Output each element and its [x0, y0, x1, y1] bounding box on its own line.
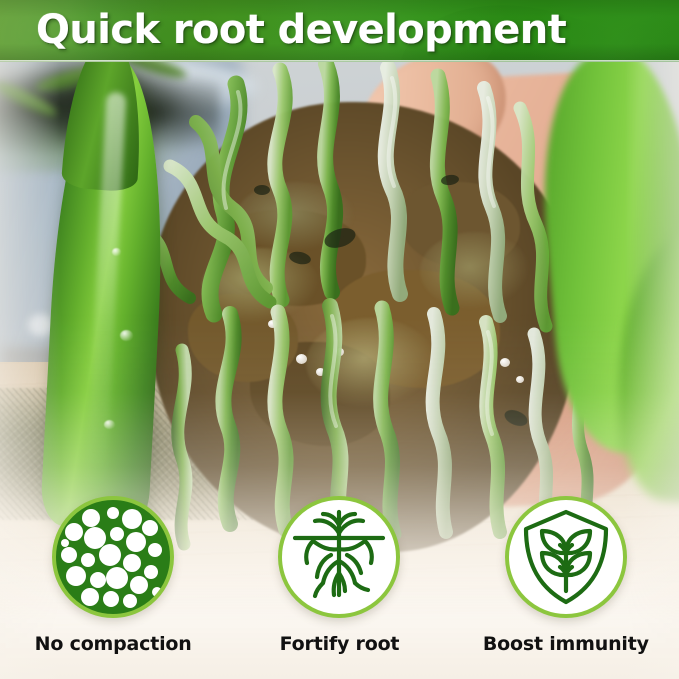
root-system-icon — [285, 503, 393, 611]
feature-list: No compaction — [0, 496, 679, 679]
feature-item-no-compaction: No compaction — [13, 496, 213, 655]
porous-dots-icon — [56, 500, 170, 614]
feature-label: Boost immunity — [483, 633, 649, 655]
feature-label: No compaction — [35, 633, 192, 655]
feature-badge — [52, 496, 174, 618]
feature-label: Fortify root — [280, 633, 400, 655]
feature-item-fortify-root: Fortify root — [239, 496, 439, 655]
feature-badge — [505, 496, 627, 618]
water-droplet — [112, 248, 121, 256]
water-droplet — [120, 330, 133, 341]
banner-leaf-shape — [591, 0, 679, 62]
feature-badge — [278, 496, 400, 618]
product-feature-poster: Quick root development — [0, 0, 679, 679]
header-banner: Quick root development — [0, 0, 679, 62]
page-title: Quick root development — [36, 10, 566, 50]
shield-plant-icon — [514, 505, 618, 609]
water-droplet — [104, 420, 115, 429]
feature-item-boost-immunity: Boost immunity — [466, 496, 666, 655]
